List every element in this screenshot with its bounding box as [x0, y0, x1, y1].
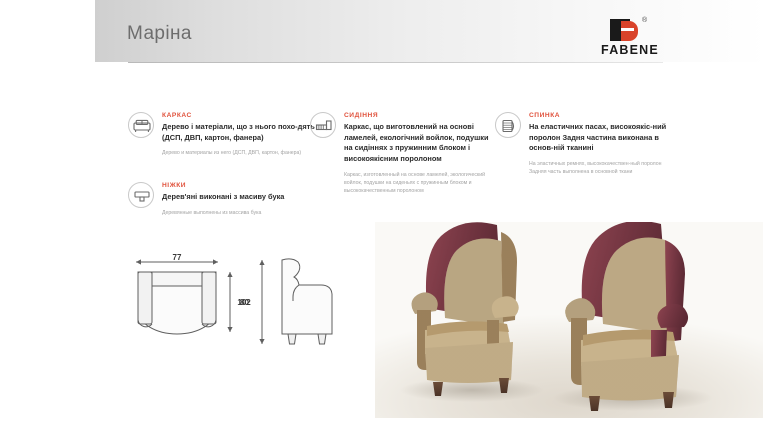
spec-item-backrest: СПИНКА На еластичних пасах, високоякіс-н… [495, 112, 670, 177]
dimension-drawings: 77 80 102 [132, 252, 362, 357]
spec-text-seat-ru: Каркас, изготовленный на основе ламелей,… [344, 172, 490, 195]
armchair-left [411, 222, 518, 396]
side-view-drawing [282, 259, 332, 344]
spec-label-seat: СИДІННЯ [344, 112, 490, 119]
brand-logo: ® FABENE [597, 19, 663, 57]
spec-body-legs: НІЖКИ Дерев'яні виконані з масиву бука Д… [162, 182, 328, 218]
armchair-right [565, 222, 688, 411]
sofa-frame-icon [128, 112, 154, 138]
header-divider [128, 62, 663, 63]
logo-mark-icon: ® [604, 19, 656, 41]
spec-item-legs: НІЖКИ Дерев'яні виконані з масиву бука Д… [128, 182, 328, 218]
spec-column-frame: КАРКАС Дерево і матеріали, що з нього по… [128, 112, 328, 218]
spec-text-backrest-ru: На эластичных ремнях, высококачествен-ны… [529, 161, 670, 177]
registered-trademark-icon: ® [642, 17, 647, 24]
spec-item-frame: КАРКАС Дерево і матеріали, що з нього по… [128, 112, 328, 158]
product-spec-sheet: Маріна ® FABENE КАРКАС Дерево і мате [0, 0, 768, 432]
height-arrow [259, 260, 264, 344]
legs-icon [128, 182, 154, 208]
spec-label-backrest: СПИНКА [529, 112, 670, 119]
spec-label-frame: КАРКАС [162, 112, 328, 119]
dimension-width-label: 77 [173, 253, 182, 262]
logo-letter-b [621, 21, 638, 41]
spec-column-seat: СИДІННЯ Каркас, що виготовлений на основ… [310, 112, 490, 195]
brand-name: FABENE [597, 43, 663, 57]
spec-text-backrest-ua: На еластичних пасах, високоякіс-ний поро… [529, 122, 670, 154]
spec-text-seat-ua: Каркас, що виготовлений на основі ламеле… [344, 122, 490, 165]
spec-body-backrest: СПИНКА На еластичних пасах, високоякіс-н… [529, 112, 670, 177]
spec-text-legs-ru: Деревянные выполнены из массива бука [162, 210, 328, 218]
top-view-drawing [136, 259, 218, 334]
header-bar [95, 0, 768, 62]
spec-item-seat: СИДІННЯ Каркас, що виготовлений на основ… [310, 112, 490, 195]
spec-body-seat: СИДІННЯ Каркас, що виготовлений на основ… [344, 112, 490, 195]
depth-arrow [227, 272, 232, 332]
backrest-icon [495, 112, 521, 138]
spec-text-legs-ua: Дерев'яні виконані з масиву бука [162, 192, 328, 203]
spec-text-frame-ua: Дерево і матеріали, що з нього похо-дять… [162, 122, 328, 143]
spec-text-frame-ru: Дерево и материалы из него (ДСП, ДВП, ка… [162, 150, 328, 158]
spec-body-frame: КАРКАС Дерево і матеріали, що з нього по… [162, 112, 328, 158]
seat-cushion-icon [310, 112, 336, 138]
spec-column-backrest: СПИНКА На еластичних пасах, високоякіс-н… [495, 112, 670, 177]
page-title: Маріна [127, 23, 192, 45]
product-photo [375, 222, 763, 418]
dimension-height-label: 102 [237, 298, 251, 307]
spec-label-legs: НІЖКИ [162, 182, 328, 189]
